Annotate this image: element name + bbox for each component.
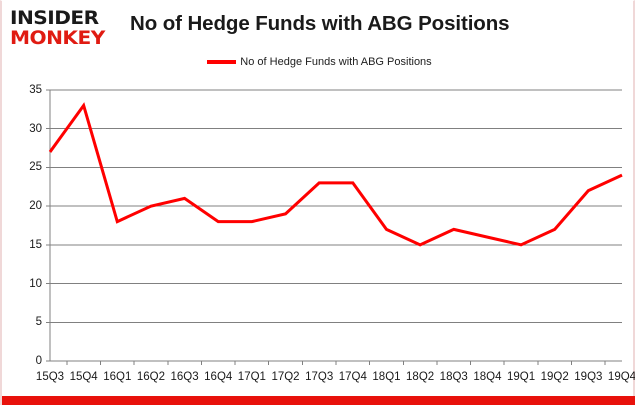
y-axis-tick-label: 0 <box>16 355 42 367</box>
chart-axis-ticks <box>46 90 605 365</box>
y-axis-tick-label: 20 <box>16 200 42 212</box>
x-axis-tick-label: 16Q1 <box>103 371 131 383</box>
y-axis-tick-label: 30 <box>16 123 42 135</box>
chart-series-line <box>50 105 622 244</box>
x-axis-tick-label: 15Q3 <box>36 371 64 383</box>
x-axis-tick-label: 16Q2 <box>137 371 165 383</box>
x-axis-tick-label: 17Q1 <box>238 371 266 383</box>
x-axis-tick-label: 17Q4 <box>339 371 367 383</box>
x-axis-tick-label: 16Q3 <box>171 371 199 383</box>
chart-page: INSIDER MONKEY No of Hedge Funds with AB… <box>0 0 635 405</box>
x-axis-tick-label: 15Q4 <box>70 371 98 383</box>
chart-gridlines <box>50 90 622 322</box>
chart-axes <box>50 90 622 361</box>
x-axis-tick-label: 17Q2 <box>271 371 299 383</box>
x-axis-tick-label: 19Q2 <box>541 371 569 383</box>
series-line-no-of-hedge-funds-with-abg-positions <box>50 105 622 244</box>
y-axis-tick-label: 35 <box>16 84 42 96</box>
chart-plot-area: 05101520253035 15Q315Q416Q116Q216Q316Q41… <box>2 1 635 406</box>
x-axis-tick-label: 18Q2 <box>406 371 434 383</box>
x-axis-tick-label: 19Q1 <box>507 371 535 383</box>
chart-svg <box>2 1 635 406</box>
x-axis-tick-label: 19Q3 <box>574 371 602 383</box>
x-axis-tick-label: 18Q4 <box>473 371 501 383</box>
x-axis-tick-label: 18Q1 <box>372 371 400 383</box>
y-axis-tick-label: 5 <box>16 316 42 328</box>
y-axis-tick-label: 10 <box>16 278 42 290</box>
bottom-accent-bar <box>2 396 635 405</box>
x-axis-tick-label: 19Q4 <box>608 371 635 383</box>
y-axis-tick-label: 15 <box>16 239 42 251</box>
x-axis-tick-label: 17Q3 <box>305 371 333 383</box>
x-axis-tick-label: 16Q4 <box>204 371 232 383</box>
y-axis-tick-label: 25 <box>16 161 42 173</box>
x-axis-tick-label: 18Q3 <box>440 371 468 383</box>
